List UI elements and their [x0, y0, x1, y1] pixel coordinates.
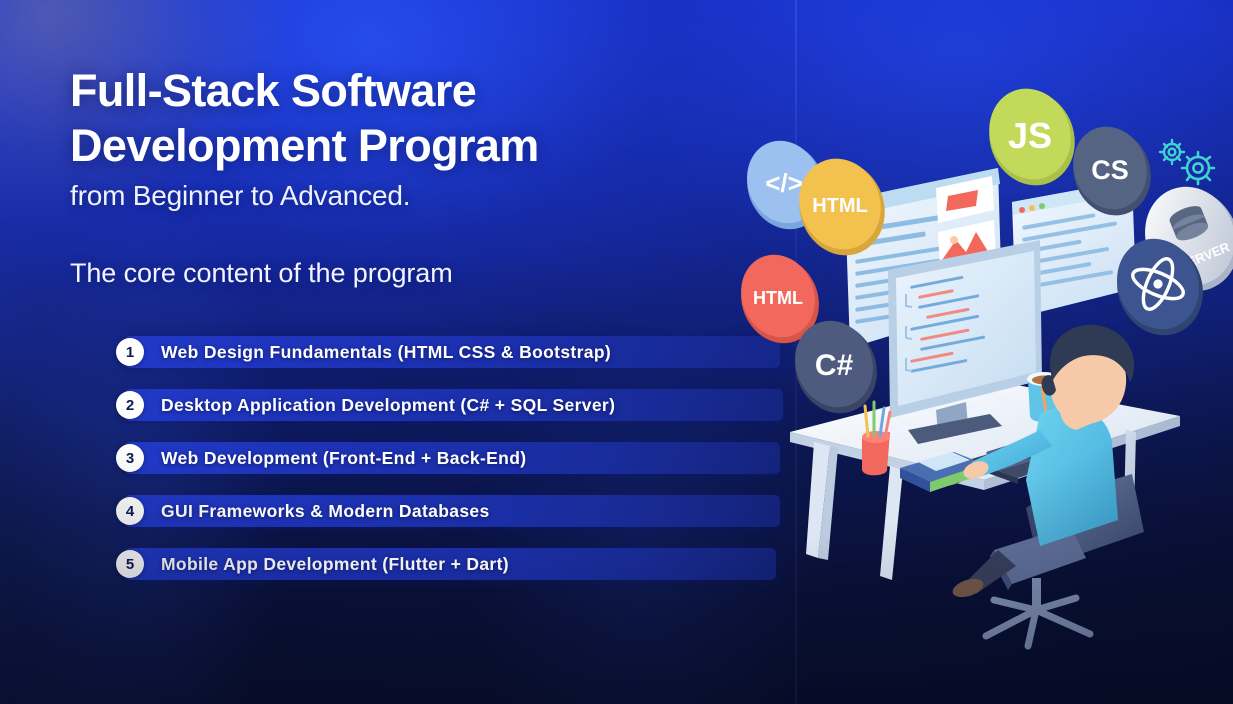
list-number-badge: 2: [116, 391, 144, 419]
list-item[interactable]: 1 Web Design Fundamentals (HTML CSS & Bo…: [125, 336, 780, 368]
headline-block: Full-Stack Software Development Program …: [70, 64, 800, 289]
list-item[interactable]: 4 GUI Frameworks & Modern Databases: [125, 495, 780, 527]
list-item-label: Mobile App Development (Flutter + Dart): [161, 554, 509, 575]
list-item[interactable]: 2 Desktop Application Development (C# + …: [125, 389, 783, 421]
list-item-label: Web Development (Front-End + Back-End): [161, 448, 526, 469]
subheadline: from Beginner to Advanced.: [70, 180, 800, 212]
gear-icon-large: [1182, 152, 1214, 184]
headline-line-2: Development Program: [70, 119, 800, 174]
badge-code-tag-label: </>: [765, 168, 803, 198]
poster-canvas: Full-Stack Software Development Program …: [0, 0, 1233, 704]
badge-html-yellow-label: HTML: [812, 195, 868, 217]
badge-js-label: JS: [1008, 115, 1052, 156]
curriculum-list: 1 Web Design Fundamentals (HTML CSS & Bo…: [125, 336, 783, 580]
badge-html-red-label: HTML: [753, 288, 803, 308]
list-item-label: GUI Frameworks & Modern Databases: [161, 501, 490, 522]
list-item-label: Web Design Fundamentals (HTML CSS & Boot…: [161, 342, 611, 363]
page-title: Full-Stack Software Development Program: [70, 64, 800, 174]
list-number-badge: 3: [116, 444, 144, 472]
section-title: The core content of the program: [70, 258, 800, 289]
gear-icon-small: [1160, 140, 1184, 164]
list-number-badge: 1: [116, 338, 144, 366]
list-number-badge: 4: [116, 497, 144, 525]
list-item-label: Desktop Application Development (C# + SQ…: [161, 395, 615, 416]
badge-csharp-label: C#: [815, 349, 854, 382]
headline-line-1: Full-Stack Software: [70, 65, 476, 116]
list-item[interactable]: 5 Mobile App Development (Flutter + Dart…: [125, 548, 776, 580]
developer-illustration: </> HTML HTML C# JS: [740, 80, 1233, 640]
list-item[interactable]: 3 Web Development (Front-End + Back-End): [125, 442, 780, 474]
badge-cs-label: CS: [1091, 155, 1129, 185]
list-number-badge: 5: [116, 550, 144, 578]
